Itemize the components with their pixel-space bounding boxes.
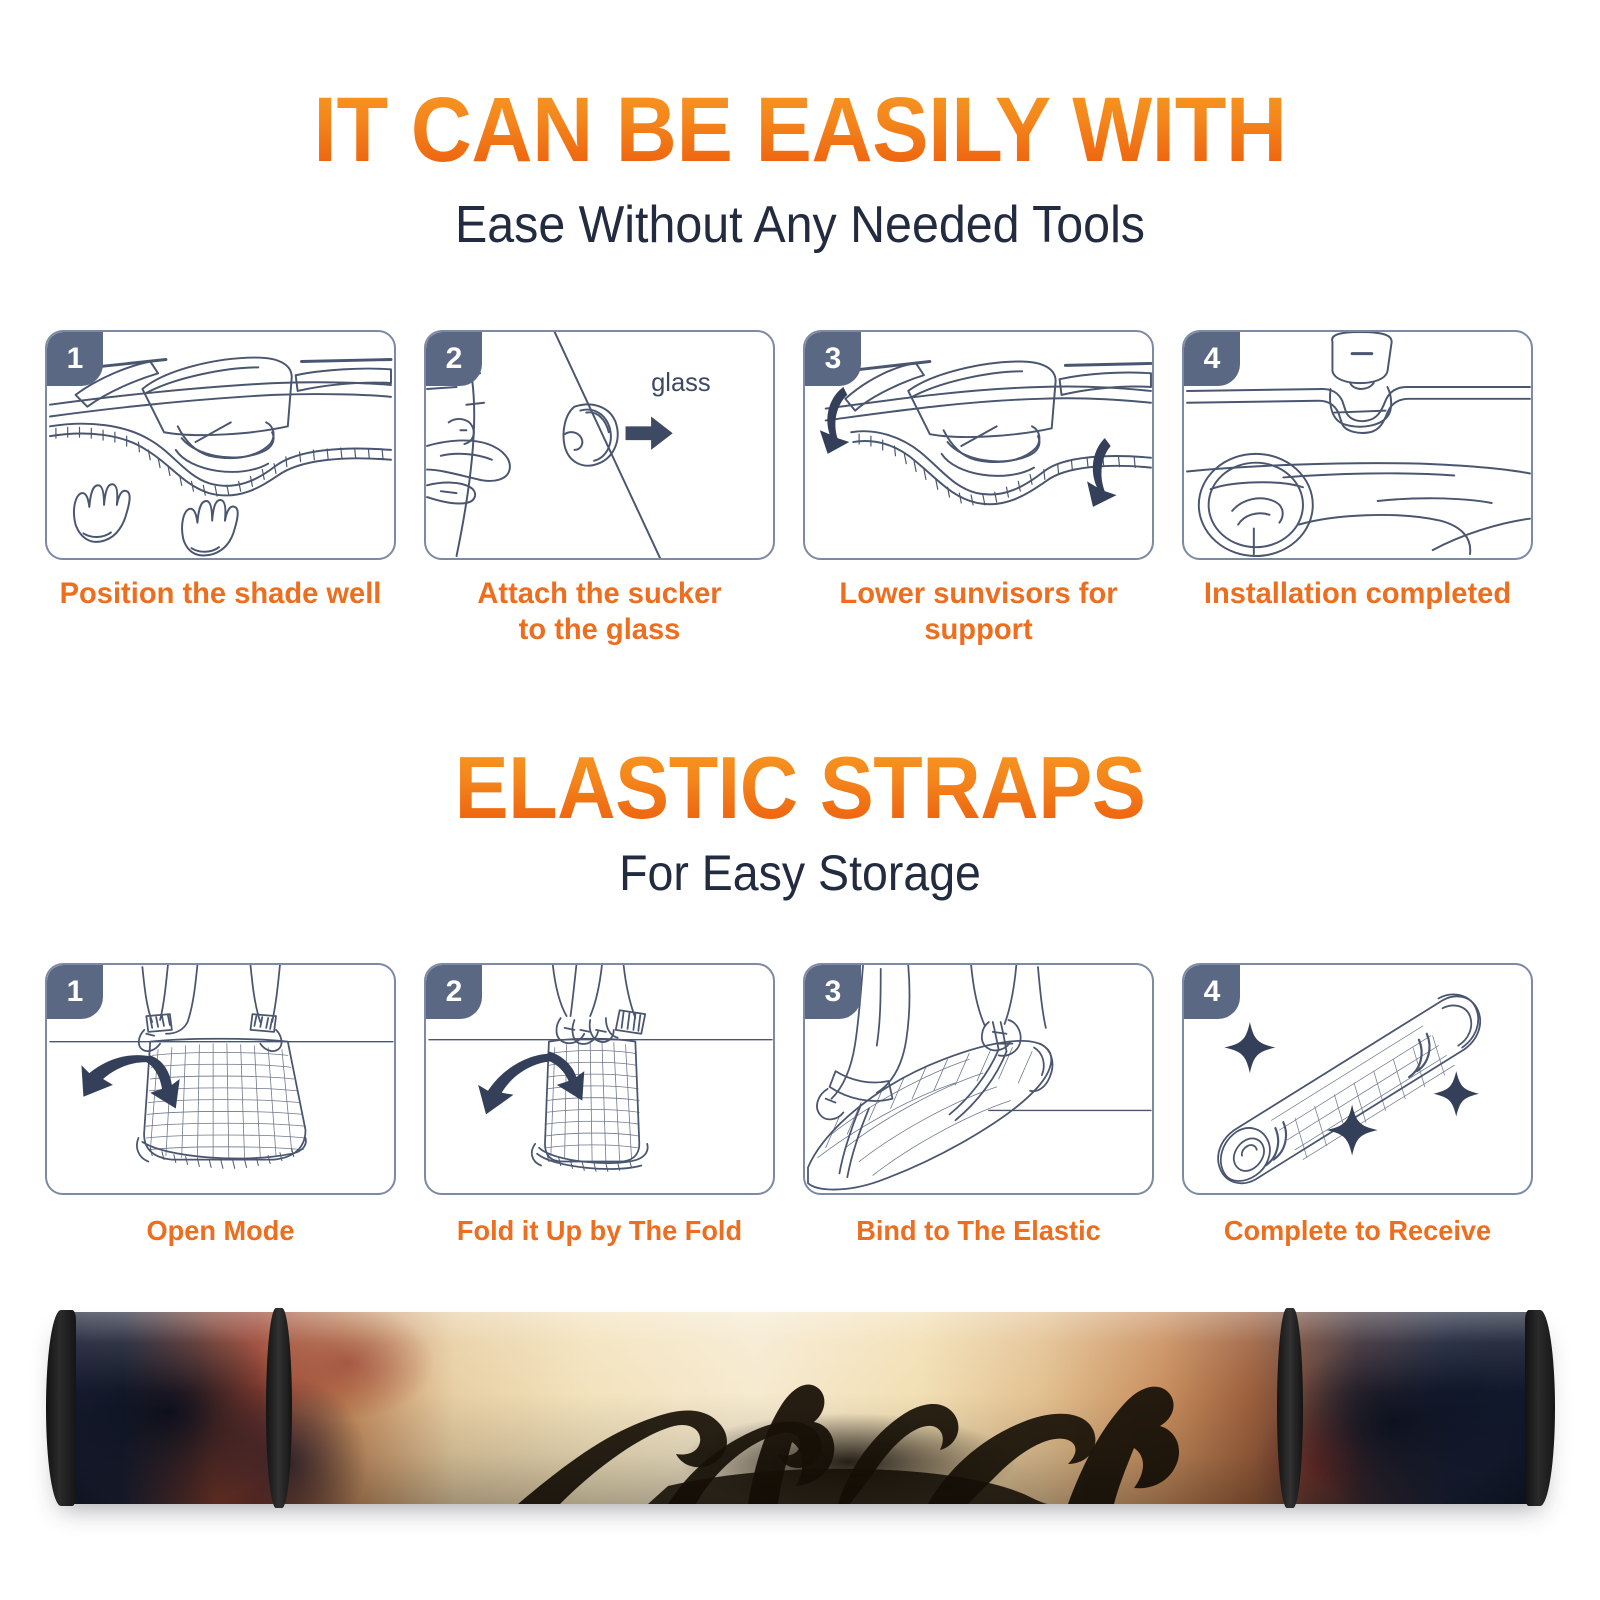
- storage-step-1: 1: [45, 963, 396, 1249]
- storage-step-3-caption: Bind to The Elastic: [808, 1213, 1148, 1249]
- install-step-grid: 1: [45, 330, 1555, 648]
- elastic-strap: [266, 1308, 292, 1508]
- step-number-badge: 4: [1184, 965, 1240, 1019]
- storage-step-3-panel: 3: [803, 963, 1154, 1195]
- step-number-badge: 3: [805, 965, 861, 1019]
- install-headline: IT CAN BE EASILY WITH: [64, 82, 1536, 178]
- infographic-page: IT CAN BE EASILY WITH Ease Without Any N…: [0, 0, 1600, 1600]
- storage-step-4-caption: Complete to Receive: [1187, 1213, 1527, 1249]
- step-number-badge: 1: [47, 965, 103, 1019]
- install-step-2-panel: 2: [424, 330, 775, 560]
- step-number-badge: 2: [426, 332, 482, 386]
- step-number-badge: 3: [805, 332, 861, 386]
- install-step-2-caption: Attach the sucker to the glass: [429, 576, 769, 648]
- storage-headline: ELASTIC STRAPS: [64, 742, 1536, 834]
- install-step-4-panel: 4: [1182, 330, 1533, 560]
- storage-step-2-caption: Fold it Up by The Fold: [429, 1213, 769, 1249]
- storage-step-1-caption: Open Mode: [50, 1213, 390, 1249]
- install-step-2-caption-line2: to the glass: [429, 612, 769, 648]
- step-number-badge: 4: [1184, 332, 1240, 386]
- install-step-3-caption-line1: Lower sunvisors for: [808, 576, 1148, 612]
- install-step-1-caption: Position the shade well: [50, 576, 390, 612]
- storage-step-grid: 1: [45, 963, 1555, 1249]
- install-step-2: 2: [424, 330, 775, 648]
- install-step-4-caption: Installation completed: [1187, 576, 1527, 612]
- roll-end-cap-right: [1525, 1310, 1555, 1506]
- install-step-1-panel: 1: [45, 330, 396, 560]
- install-step-3-caption: Lower sunvisors for support: [808, 576, 1148, 648]
- product-photo-rolled-sunshade: [48, 1312, 1553, 1504]
- install-step-3-caption-line2: support: [808, 612, 1148, 648]
- glass-label: glass: [651, 369, 711, 397]
- install-step-4: 4: [1182, 330, 1533, 648]
- storage-step-4-panel: 4: [1182, 963, 1533, 1195]
- storage-subhead: For Easy Storage: [56, 845, 1544, 901]
- storage-step-1-panel: 1: [45, 963, 396, 1195]
- elastic-strap: [1277, 1308, 1303, 1508]
- storage-step-3: 3: [803, 963, 1154, 1249]
- storage-step-4: 4: [1182, 963, 1533, 1249]
- step-number-badge: 2: [426, 965, 482, 1019]
- step-number-badge: 1: [47, 332, 103, 386]
- storage-step-2: 2: [424, 963, 775, 1249]
- install-step-2-caption-line1: Attach the sucker: [429, 576, 769, 612]
- install-step-1: 1: [45, 330, 396, 648]
- sparkle-icons: [1224, 1022, 1479, 1156]
- roll-end-cap-left: [46, 1310, 76, 1506]
- install-step-3-panel: 3: [803, 330, 1154, 560]
- install-subhead: Ease Without Any Needed Tools: [56, 196, 1544, 254]
- storage-step-2-panel: 2: [424, 963, 775, 1195]
- install-step-3: 3: [803, 330, 1154, 648]
